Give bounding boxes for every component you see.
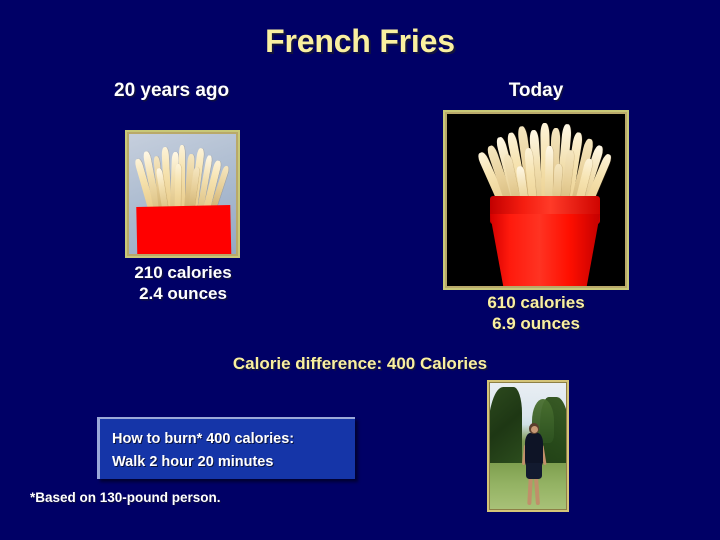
slide-canvas: French Fries 20 years ago Today <box>0 0 720 540</box>
caption-today: 610 calories 6.9 ounces <box>466 292 606 334</box>
leg-left <box>527 477 532 505</box>
torso <box>525 433 543 467</box>
column-header-past: 20 years ago <box>114 80 229 102</box>
caption-past: 210 calories 2.4 ounces <box>120 262 246 304</box>
leg-right <box>534 477 540 505</box>
footnote-text: *Based on 130-pound person. <box>30 490 221 505</box>
large-fries-image-area <box>447 114 625 286</box>
calorie-difference-text: Calorie difference: 400 Calories <box>0 354 720 374</box>
skirt <box>526 463 542 479</box>
ounces-past: 2.4 ounces <box>120 283 246 304</box>
fries-carton-small <box>136 205 231 254</box>
face <box>531 426 538 433</box>
fries-carton-large <box>490 214 600 286</box>
walking-person-figure <box>523 423 545 507</box>
how-to-burn-box: How to burn* 400 calories: Walk 2 hour 2… <box>97 417 355 479</box>
calories-today: 610 calories <box>466 292 606 313</box>
column-header-today: Today <box>466 80 606 102</box>
small-fries-image-area <box>129 134 236 254</box>
walking-photo-image-area <box>490 383 566 509</box>
large-fries-photo <box>443 110 629 290</box>
ounces-today: 6.9 ounces <box>466 313 606 334</box>
page-title: French Fries <box>0 23 720 60</box>
burn-box-line-2: Walk 2 hour 20 minutes <box>112 451 355 474</box>
small-fries-photo <box>125 130 240 258</box>
calories-past: 210 calories <box>120 262 246 283</box>
burn-box-line-1: How to burn* 400 calories: <box>112 428 355 451</box>
woman-walking-photo <box>487 380 569 512</box>
